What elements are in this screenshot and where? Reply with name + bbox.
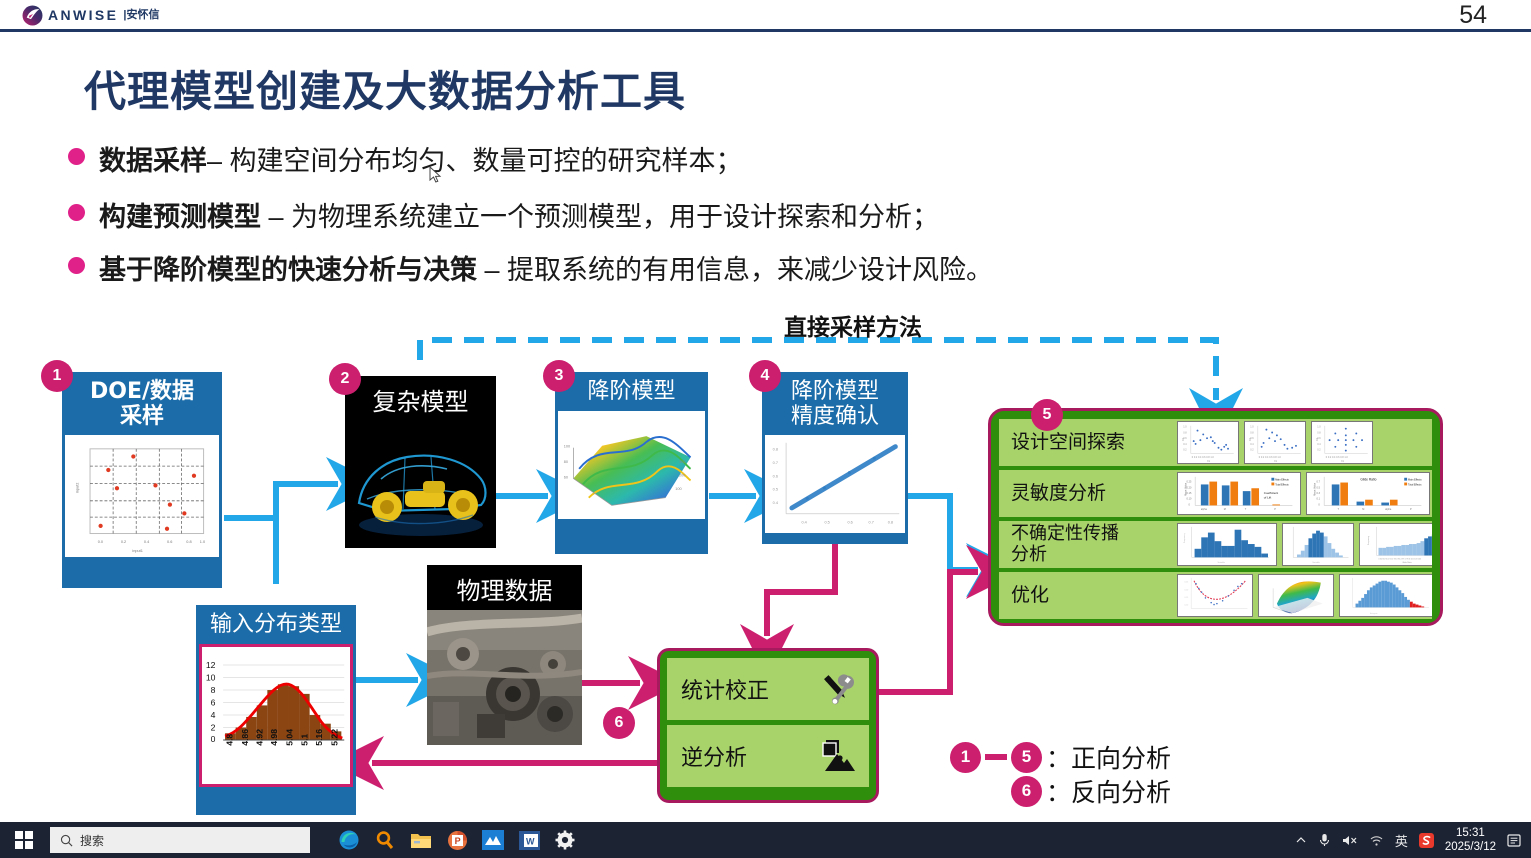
svg-text:0: 0: [211, 734, 216, 744]
engine-photo: [427, 610, 582, 745]
svg-text:Total Effects: Total Effects: [1408, 483, 1422, 486]
svg-text:0.25: 0.25: [1187, 481, 1192, 484]
calibration-row-inverse[interactable]: 逆分析: [667, 725, 869, 787]
green-row-thumbnails: Frequency Variable Varia: [1177, 521, 1432, 568]
bullet-rest: – 构建空间分布均匀、数量可控的研究样本；: [207, 146, 743, 176]
green-row-thumbnails: 0.250.200.15 0.10: [1177, 572, 1432, 619]
page-number: 54: [1459, 1, 1487, 30]
green-row-thumbnails: 0 0.2 0.4 0.6 0.8 1.0X1 X2 1.00.80.6 0.4…: [1177, 419, 1373, 466]
legend-badge: 6: [1011, 776, 1042, 807]
step-card-complex-model[interactable]: 复杂模型: [345, 376, 496, 548]
results-panel[interactable]: 设计空间探索 0 0.2 0.4 0.6 0.8 1.0X1 X2 1.00.8…: [988, 408, 1443, 626]
svg-text:5.1: 5.1: [300, 733, 310, 745]
bullet-dot-icon: [68, 148, 85, 165]
calibration-panel[interactable]: 统计校正 逆分析: [657, 648, 879, 803]
sensitivity-coefficient-of-lift: Main EffectsTotal Effects Coefficientof …: [1177, 472, 1301, 515]
svg-text:0.15: 0.15: [1187, 492, 1192, 495]
svg-text:300: 300: [679, 460, 685, 464]
svg-text:0.7: 0.7: [773, 461, 778, 465]
svg-text:0.6: 0.6: [167, 540, 172, 544]
step-card-reduced-order-model[interactable]: 降阶模型 1008060: [555, 372, 708, 554]
svg-text:Coefficient: Coefficient: [1264, 491, 1278, 495]
bullet-bold: 数据采样: [99, 146, 207, 176]
svg-text:0.25: 0.25: [1184, 582, 1188, 584]
green-row-label: 优化: [999, 585, 1177, 606]
sogou-icon[interactable]: [1419, 833, 1434, 848]
svg-text:6: 6: [211, 697, 216, 707]
everything-search-icon[interactable]: [372, 827, 398, 853]
svg-text:8: 8: [211, 685, 216, 695]
clock-date: 2025/3/12: [1445, 840, 1496, 854]
svg-text:2: 2: [211, 722, 216, 732]
card-input-distribution[interactable]: 输入分布类型: [196, 605, 356, 815]
wifi-icon[interactable]: [1369, 834, 1384, 847]
svg-text:10: 10: [206, 672, 216, 682]
file-explorer-icon[interactable]: [408, 827, 434, 853]
green-row-label: 设计空间探索: [999, 432, 1177, 453]
green-row-label: 灵敏度分析: [999, 483, 1177, 504]
mouse-cursor-icon: [429, 166, 443, 184]
svg-text:of Lift: of Lift: [1264, 496, 1272, 500]
svg-text:12: 12: [206, 660, 216, 670]
svg-text:0.4: 0.4: [773, 501, 779, 505]
svg-text:Histogram: Histogram: [1370, 612, 1378, 615]
step-card-title: 复杂模型: [345, 376, 496, 421]
powerpoint-icon[interactable]: P: [444, 827, 470, 853]
svg-text:0 0.2 0.4 0.6 0.8 1.0: 0 0.2 0.4 0.6 0.8 1.0: [1326, 456, 1349, 459]
bullet-bold: 基于降阶模型的快速分析与决策: [99, 255, 477, 285]
sensitivity-glide-ratio: Glide Ratio Main EffectsTotal Effects TM…: [1306, 472, 1430, 515]
svg-text:0.8: 0.8: [773, 448, 778, 452]
windows-taskbar: 搜索: [0, 822, 1531, 858]
svg-text:input2: input2: [75, 483, 79, 493]
taskbar-app-icons: P W: [336, 827, 578, 853]
accuracy-scatter-plot: 0.80.70.6 0.50.4 0.40.50.6 0.70.8: [765, 435, 905, 533]
svg-text:0 0.2 0.4 0.6 0.8 1.0: 0 0.2 0.4 0.6 0.8 1.0: [1192, 456, 1215, 459]
bullet-rest: – 为物理系统建立一个预测模型，用于设计探索和分析；: [261, 202, 939, 232]
svg-text:4: 4: [211, 710, 216, 720]
svg-text:0.4: 0.4: [801, 521, 807, 525]
wrench-screwdriver-icon: [817, 670, 857, 708]
volume-muted-icon[interactable]: [1342, 834, 1358, 847]
svg-text:0.6: 0.6: [847, 521, 852, 525]
svg-text:input1: input1: [132, 549, 142, 553]
input-distribution-histogram: 12108 6420 4.8 4.86 4.92 4.98 5.04 5.1 5…: [199, 644, 353, 787]
svg-text:Total Effects: Total Effects: [1275, 483, 1289, 486]
clock[interactable]: 15:31 2025/3/12: [1445, 826, 1496, 855]
bullet-item: 构建预测模型 – 为物理系统建立一个预测模型，用于设计探索和分析；: [68, 195, 939, 234]
step-badge-4: 4: [750, 361, 780, 391]
image-analysis-icon: [817, 737, 857, 775]
svg-text:0.0: 0.0: [98, 540, 103, 544]
svg-text:Frequency: Frequency: [1367, 536, 1370, 545]
legend-text: ：反向分析: [1046, 773, 1171, 809]
legend-text: ：正向分析: [1046, 739, 1171, 775]
windows-start-icon[interactable]: [0, 822, 48, 858]
legend-row-reverse: 6 ：反向分析: [950, 774, 1171, 808]
header-divider: [0, 29, 1531, 32]
svg-text:0.20: 0.20: [1187, 486, 1192, 489]
green-row-design-exploration[interactable]: 设计空间探索 0 0.2 0.4 0.6 0.8 1.0X1 X2 1.00.8…: [999, 419, 1432, 466]
svg-text:P: P: [454, 836, 460, 846]
slide-header: ANWISE |安怀信 54: [0, 0, 1531, 30]
card-title: 输入分布类型: [199, 608, 353, 644]
step-badge-5: 5: [1032, 400, 1062, 430]
optimization-surface: [1258, 574, 1334, 617]
green-row-optimization[interactable]: 优化 0.250.200.15 0.10: [999, 572, 1432, 619]
settings-gear-icon[interactable]: [552, 827, 578, 853]
svg-text:Variable: Variable: [1312, 561, 1320, 564]
svg-text:4.8: 4.8: [225, 733, 235, 745]
svg-text:4.98: 4.98: [269, 728, 279, 745]
green-row-uncertainty[interactable]: 不确定性传播 分析 Frequency Variable: [999, 521, 1432, 568]
doe-scatter-plot: 0.00.20.4 0.60.81.0 input1 input2: [65, 435, 219, 557]
chevron-up-icon[interactable]: [1295, 834, 1307, 846]
svg-text:80: 80: [564, 460, 568, 464]
svg-text:100: 100: [675, 487, 681, 491]
uq-histogram-a: Frequency Variable: [1177, 523, 1277, 566]
svg-text:W: W: [526, 836, 535, 846]
scatter-x1-x2-a: 0 0.2 0.4 0.6 0.8 1.0X1 X2 1.00.80.6 0.4…: [1177, 421, 1239, 464]
green-row-thumbnails: Main EffectsTotal Effects Coefficientof …: [1177, 470, 1430, 517]
step-card-rom-accuracy[interactable]: 降阶模型 精度确认 0.80.70.6 0.50.4 0.40.50.6 0.7…: [762, 372, 908, 544]
bullet-rest: – 提取系统的有用信息，来减少设计风险。: [477, 255, 993, 285]
bullet-item: 基于降阶模型的快速分析与决策 – 提取系统的有用信息，来减少设计风险。: [68, 248, 993, 287]
bullet-item: 数据采样– 构建空间分布均匀、数量可控的研究样本；: [68, 139, 743, 178]
svg-text:4.86: 4.86: [240, 728, 250, 745]
svg-text:alpha: alpha: [1201, 508, 1208, 511]
svg-text:0.15: 0.15: [1184, 597, 1188, 599]
svg-text:0.8: 0.8: [888, 521, 893, 525]
card-title: 物理数据: [427, 565, 582, 610]
car-chassis-photo: [345, 421, 496, 548]
calibration-label: 逆分析: [681, 740, 747, 772]
svg-text:100: 100: [564, 444, 570, 448]
step-badge-1: 1: [42, 361, 72, 391]
svg-text:5.22: 5.22: [330, 728, 340, 745]
system-tray: 英 15:31 2025/3/12: [1295, 826, 1523, 855]
svg-text:5.04: 5.04: [284, 728, 294, 745]
optimization-histogram: Histogram: [1339, 574, 1432, 617]
svg-text:0 0.2 0.4 0.6 0.8 1.0: 0 0.2 0.4 0.6 0.8 1.0: [1259, 456, 1282, 459]
direct-sampling-label: 直接采样方法: [784, 308, 922, 342]
green-row-sensitivity[interactable]: 灵敏度分析 Main EffectsTotal Effects Coeffici…: [999, 470, 1432, 517]
bullet-dot-icon: [68, 204, 85, 221]
svg-text:Main Effects: Main Effects: [1408, 479, 1422, 482]
step-badge-3: 3: [544, 361, 574, 391]
svg-text:0.2: 0.2: [121, 540, 126, 544]
svg-text:0.4: 0.4: [144, 540, 150, 544]
svg-text:0.10: 0.10: [1184, 605, 1188, 607]
microphone-icon[interactable]: [1318, 833, 1331, 847]
svg-text:Frequency: Frequency: [1183, 532, 1186, 543]
legend-dash-icon: [985, 754, 1007, 760]
green-row-label: 不确定性传播 分析: [999, 524, 1177, 564]
clock-time: 15:31: [1445, 826, 1496, 840]
workflow-diagram: 直接采样方法 1 DOE/数据 采样: [0, 300, 1531, 825]
3d-surface-plot: 1008060 300200100: [558, 411, 705, 519]
legend: 1 5 ：正向分析 6 ：反向分析: [950, 740, 1171, 808]
svg-text:Glide Ratio: Glide Ratio: [1360, 478, 1376, 482]
svg-text:0.10: 0.10: [1187, 498, 1192, 501]
anwise-logo-icon: [22, 5, 43, 26]
bullet-bold: 构建预测模型: [99, 202, 261, 232]
search-input[interactable]: 搜索: [50, 827, 310, 853]
svg-text:0.20: 0.20: [1184, 589, 1188, 591]
svg-text:0 30 60 90.1 92.2 93.3 95.4 97: 0 30 60 90.1 92.2 93.3 95.4 97.5 99.6 10…: [1378, 558, 1421, 560]
svg-text:Main Effects: Main Effects: [1275, 479, 1289, 482]
search-icon: [60, 834, 73, 847]
uq-histogram-c: 0 30 60 90.1 92.2 93.3 95.4 97.5 99.6 10…: [1359, 523, 1432, 566]
step-card-doe-sampling[interactable]: DOE/数据 采样 0.00.20.4: [62, 372, 222, 588]
word-icon[interactable]: W: [516, 827, 542, 853]
uq-histogram-b: Variable: [1282, 523, 1354, 566]
svg-text:60: 60: [564, 475, 568, 479]
notification-icon[interactable]: [1507, 833, 1523, 848]
legend-badge: 5: [1011, 742, 1042, 773]
scatter-x1-x2-b: 0 0.2 0.4 0.6 0.8 1.0X1 X2 1.00.80.6 0.4…: [1244, 421, 1306, 464]
calibration-row-statistical[interactable]: 统计校正: [667, 658, 869, 720]
svg-text:0.5: 0.5: [824, 521, 829, 525]
search-placeholder: 搜索: [80, 832, 104, 849]
svg-text:0.7: 0.7: [869, 521, 874, 525]
svg-text:M: M: [1362, 508, 1364, 511]
card-physical-data[interactable]: 物理数据: [427, 565, 582, 745]
page-title: 代理模型创建及大数据分析工具: [84, 58, 686, 119]
ime-indicator[interactable]: 英: [1395, 831, 1408, 850]
step-card-title: 降阶模型: [558, 375, 705, 411]
svg-text:0.8: 0.8: [186, 540, 191, 544]
anwise-logo: ANWISE |安怀信: [22, 4, 159, 26]
svg-text:alpha: alpha: [1385, 508, 1392, 511]
calibration-label: 统计校正: [681, 673, 769, 705]
step-badge-2: 2: [330, 364, 360, 394]
svg-text:5.16: 5.16: [314, 728, 324, 745]
step-card-title: DOE/数据 采样: [65, 375, 219, 435]
svg-text:4.92: 4.92: [255, 728, 265, 745]
svg-text:0.5: 0.5: [773, 488, 778, 492]
bullet-text: 基于降阶模型的快速分析与决策 – 提取系统的有用信息，来减少设计风险。: [99, 248, 993, 287]
svg-text:200: 200: [679, 473, 685, 477]
step-card-title: 降阶模型 精度确认: [765, 375, 905, 435]
legend-badge: 1: [950, 742, 981, 773]
bullet-text: 数据采样– 构建空间分布均匀、数量可控的研究样本；: [99, 139, 743, 178]
bullet-dot-icon: [68, 257, 85, 274]
svg-text:1.0: 1.0: [200, 540, 205, 544]
step-badge-6: 6: [604, 708, 634, 738]
svg-text:Glide Ratio: Glide Ratio: [1402, 561, 1411, 564]
svg-text:M: M: [1224, 508, 1226, 511]
app-blue-icon[interactable]: [480, 827, 506, 853]
logo-wordmark: ANWISE: [48, 5, 118, 26]
svg-text:0.6: 0.6: [773, 475, 778, 479]
logo-chinese-name: |安怀信: [123, 5, 159, 26]
scatter-x1-x2-c: 0 0.2 0.4 0.6 0.8 1.0X1 X2 1.00.80.6 0.4…: [1311, 421, 1373, 464]
optimization-curve-fit: 0.250.200.15 0.10: [1177, 574, 1253, 617]
legend-row-forward: 1 5 ：正向分析: [950, 740, 1171, 774]
bullet-text: 构建预测模型 – 为物理系统建立一个预测模型，用于设计探索和分析；: [99, 195, 939, 234]
svg-text:Variable: Variable: [1217, 561, 1225, 564]
edge-icon[interactable]: [336, 827, 362, 853]
